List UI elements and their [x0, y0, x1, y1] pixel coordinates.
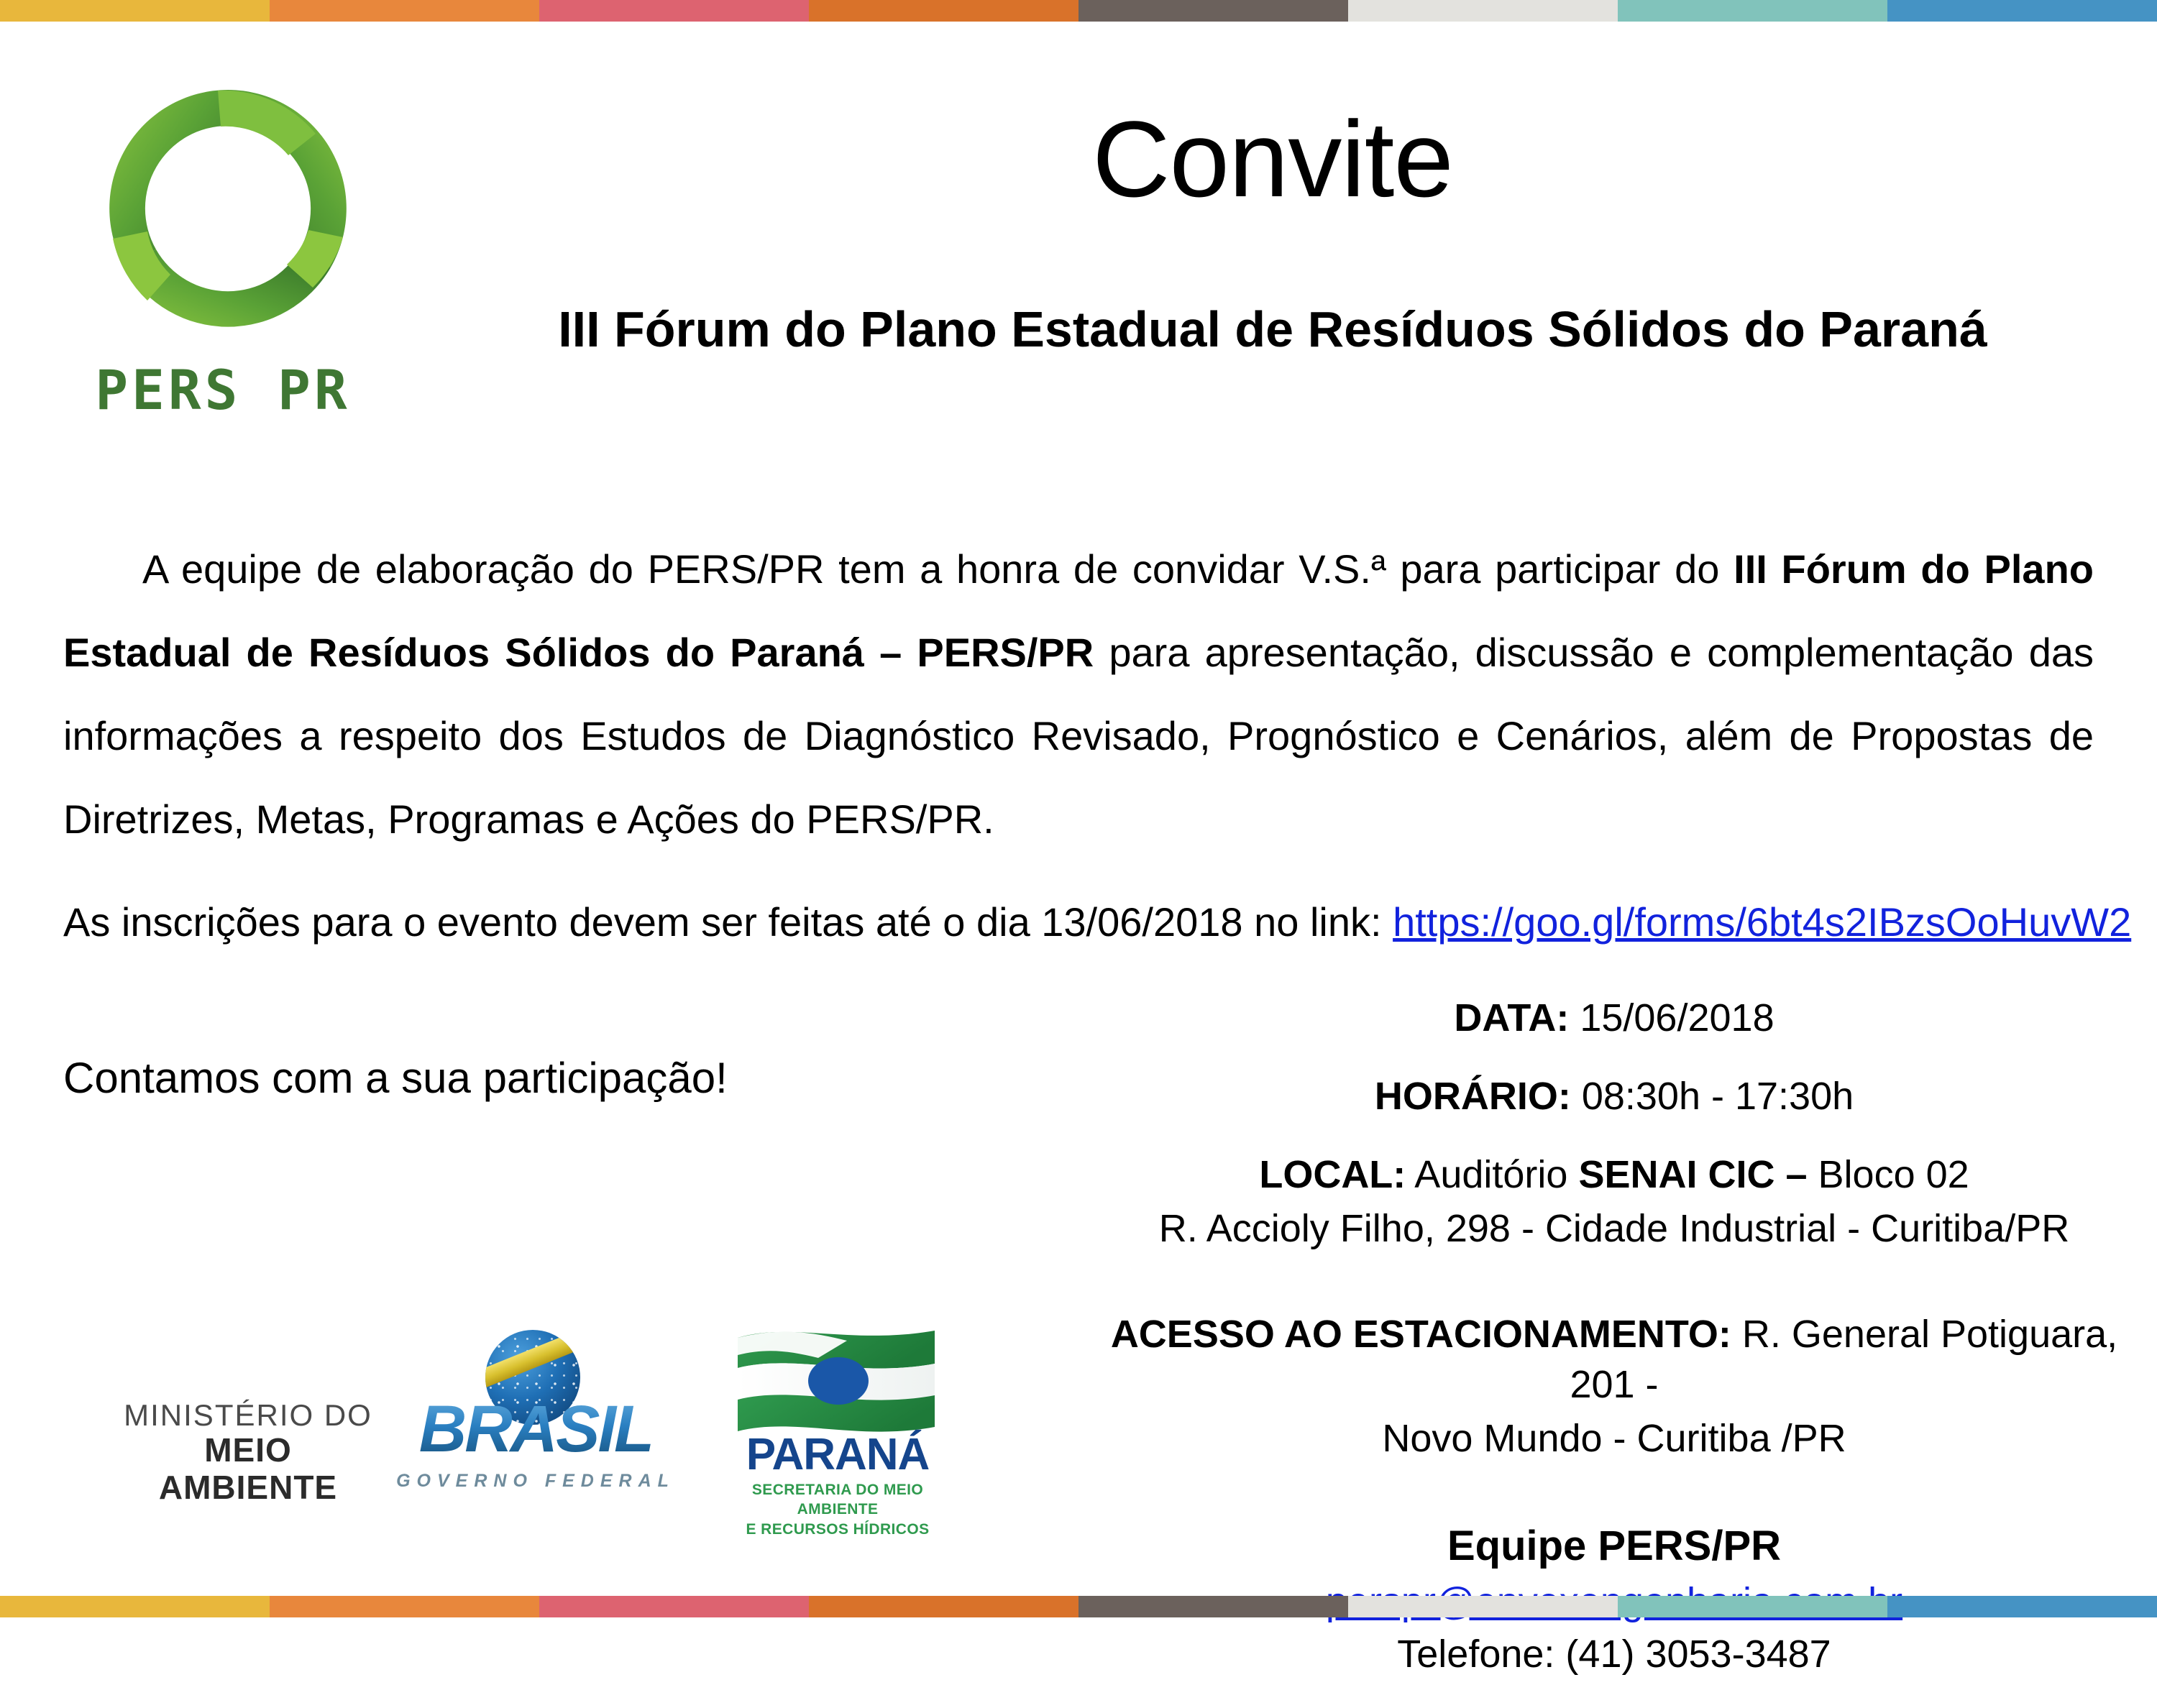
color-band-7 — [1618, 0, 1887, 22]
color-band-3 — [539, 1596, 809, 1617]
parana-sema-logo: PARANÁ SECRETARIA DO MEIO AMBIENTE E REC… — [719, 1326, 956, 1535]
time-value: 08:30h - 17:30h — [1571, 1075, 1854, 1118]
color-band-5 — [1078, 0, 1348, 22]
color-band-7 — [1618, 1596, 1887, 1617]
pers-pr-wordmark: PERS PR — [68, 363, 377, 418]
parana-subtitle: SECRETARIA DO MEIO AMBIENTE E RECURSOS H… — [719, 1480, 956, 1539]
venue-value-2: Bloco 02 — [1808, 1153, 1969, 1196]
closing-line: Contamos com a sua participação! — [63, 1051, 728, 1105]
color-band-3 — [539, 0, 809, 22]
venue-bold: SENAI CIC – — [1578, 1153, 1807, 1196]
color-band-8 — [1887, 0, 2157, 22]
detail-row-venue: LOCAL: Auditório SENAI CIC – Bloco 02 — [1100, 1150, 2128, 1200]
pers-ring-icon — [84, 61, 372, 356]
pers-pr-logo: PERS PR — [68, 61, 377, 460]
detail-row-date: DATA: 15/06/2018 — [1100, 993, 2128, 1043]
detail-row-parking: ACESSO AO ESTACIONAMENTO: R. General Pot… — [1100, 1310, 2128, 1409]
color-band-8 — [1887, 1596, 2157, 1617]
contact-phone: Telefone: (41) 3053-3487 — [1100, 1630, 2128, 1679]
parking-label: ACESSO AO ESTACIONAMENTO: — [1111, 1313, 1731, 1356]
registration-text: As inscrições para o evento devem ser fe… — [63, 899, 1393, 945]
color-band-6 — [1348, 1596, 1618, 1617]
color-band-4 — [809, 1596, 1078, 1617]
venue-value-1: Auditório — [1406, 1153, 1578, 1196]
page-subtitle: III Fórum do Plano Estadual de Resíduos … — [431, 302, 2114, 357]
mma-line-1: MINISTÉRIO DO — [111, 1398, 385, 1432]
mma-line-2: MEIO AMBIENTE — [111, 1432, 385, 1506]
brasil-wordmark: BRASIL — [374, 1396, 697, 1462]
color-band-1 — [0, 0, 270, 22]
brasil-governo-federal-logo: BRASIL GOVERNO FEDERAL — [374, 1330, 697, 1524]
registration-line: As inscrições para o evento devem ser fe… — [63, 897, 2094, 947]
bottom-color-bar — [0, 1596, 2157, 1617]
parana-wordmark: PARANÁ — [719, 1433, 956, 1477]
detail-row-venue-address: R. Accioly Filho, 298 - Cidade Industria… — [1100, 1204, 2128, 1254]
invitation-paragraph: A equipe de elaboração do PERS/PR tem a … — [63, 528, 2094, 861]
color-band-5 — [1078, 1596, 1348, 1617]
time-label: HORÁRIO: — [1375, 1075, 1571, 1118]
top-color-bar — [0, 0, 2157, 22]
paragraph-part-1: A equipe de elaboração do PERS/PR tem a … — [142, 546, 1734, 592]
color-band-1 — [0, 1596, 270, 1617]
registration-form-link[interactable]: https://goo.gl/forms/6bt4s2IBzsOoHuvW2 — [1393, 899, 2131, 945]
brasil-subtitle: GOVERNO FEDERAL — [374, 1471, 697, 1492]
parana-subtitle-line-2: E RECURSOS HÍDRICOS — [719, 1520, 956, 1539]
date-label: DATA: — [1454, 996, 1569, 1039]
color-band-4 — [809, 0, 1078, 22]
footer-logo-group: MINISTÉRIO DO MEIO AMBIENTE BRASIL GOVER… — [86, 1323, 992, 1538]
ministerio-meio-ambiente-logo: MINISTÉRIO DO MEIO AMBIENTE — [111, 1398, 385, 1506]
color-band-6 — [1348, 0, 1618, 22]
page-title: Convite — [431, 101, 2114, 217]
color-band-2 — [270, 1596, 539, 1617]
date-value: 15/06/2018 — [1569, 996, 1774, 1039]
parana-subtitle-line-1: SECRETARIA DO MEIO AMBIENTE — [719, 1480, 956, 1520]
color-band-2 — [270, 0, 539, 22]
venue-label: LOCAL: — [1259, 1153, 1406, 1196]
team-name: Equipe PERS/PR — [1100, 1520, 2128, 1573]
parana-flag-icon — [732, 1326, 940, 1434]
detail-row-time: HORÁRIO: 08:30h - 17:30h — [1100, 1072, 2128, 1121]
detail-row-parking-address: Novo Mundo - Curitiba /PR — [1100, 1414, 2128, 1464]
